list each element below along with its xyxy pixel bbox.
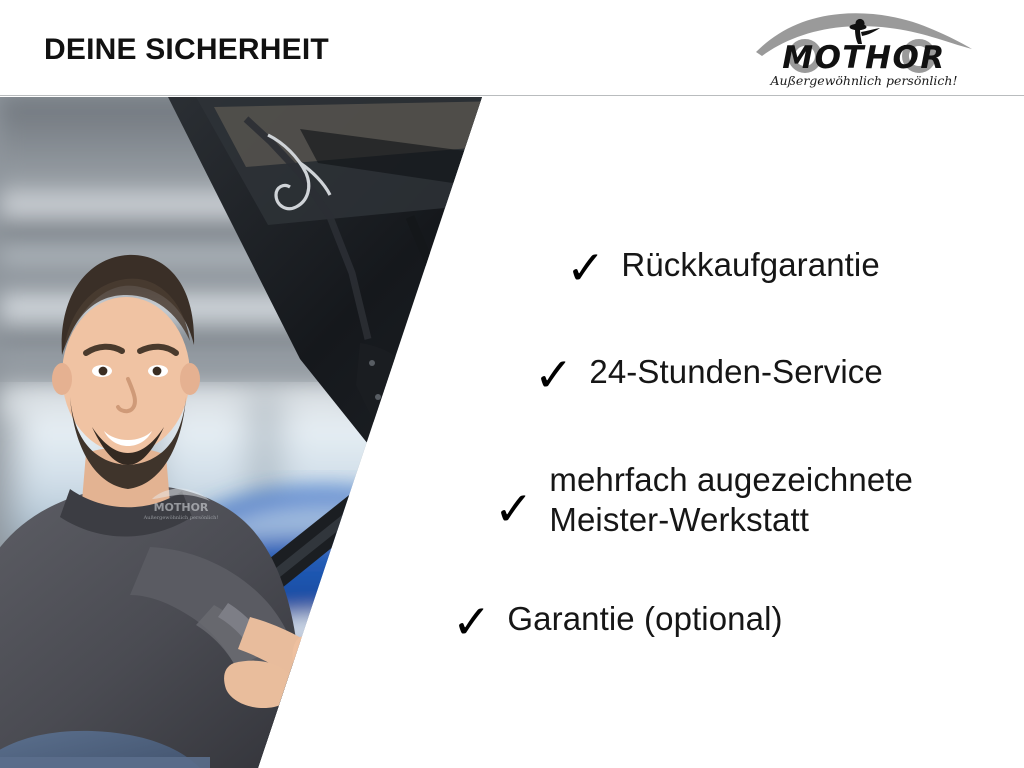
checklist-item-garantie-optional: ✓ Garantie (optional)	[452, 599, 783, 646]
logo-tagline: Außergewöhnlich persönlich!	[770, 73, 958, 88]
checklist-item-label-multiline: mehrfach augezeichnete Meister-Werkstatt	[549, 460, 913, 541]
checklist-item-rueckkaufgarantie: ✓ Rückkaufgarantie	[566, 245, 880, 292]
logo-svg: MOTHOR Außergewöhnlich persönlich!	[748, 8, 980, 90]
check-icon: ✓	[494, 486, 533, 533]
benefits-checklist: ✓ Rückkaufgarantie ✓ 24-Stunden-Service …	[0, 97, 1024, 768]
checklist-item-label: Rückkaufgarantie	[621, 245, 879, 285]
slide-root: DEINE SICHERHEIT MOTHOR Außergewöhnli	[0, 0, 1024, 768]
checklist-item-label-line2: Meister-Werkstatt	[549, 500, 913, 540]
checklist-item-24-stunden-service: ✓ 24-Stunden-Service	[534, 352, 883, 399]
checklist-item-label: Garantie (optional)	[507, 599, 782, 639]
checklist-item-label-line1: mehrfach augezeichnete	[549, 461, 913, 498]
header-bar: DEINE SICHERHEIT MOTHOR Außergewöhnli	[0, 0, 1024, 96]
checklist-item-label: 24-Stunden-Service	[589, 352, 882, 392]
checklist-item-meister-werkstatt: ✓ mehrfach augezeichnete Meister-Werksta…	[494, 460, 913, 541]
logo-wordmark: MOTHOR	[782, 40, 946, 76]
check-icon: ✓	[452, 599, 491, 646]
check-icon: ✓	[566, 245, 605, 292]
page-title: DEINE SICHERHEIT	[44, 33, 329, 67]
brand-logo: MOTHOR Außergewöhnlich persönlich!	[748, 8, 980, 90]
check-icon: ✓	[534, 352, 573, 399]
